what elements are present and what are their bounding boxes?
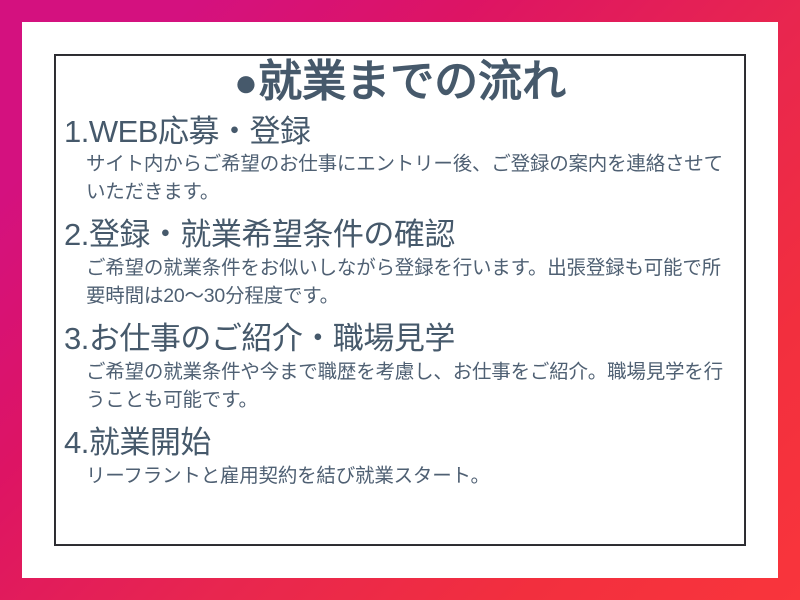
- step-number: 1.: [64, 114, 89, 149]
- step-number: 4.: [64, 425, 89, 460]
- list-item: 3.お仕事のご紹介・職場見学 ご希望の就業条件や今まで職歴を考慮し、お仕事をご紹…: [64, 321, 736, 414]
- step-description: リーフラントと雇用契約を結び就業スタート。: [86, 463, 736, 491]
- step-heading: 3.お仕事のご紹介・職場見学: [64, 321, 736, 358]
- step-heading: 4.就業開始: [64, 425, 736, 462]
- step-number: 3.: [64, 321, 89, 356]
- step-heading: 1.WEB応募・登録: [64, 114, 736, 151]
- step-number: 2.: [64, 217, 89, 252]
- step-description: サイト内からご希望のお仕事にエントリー後、ご登録の案内を連絡させていただきます。: [86, 151, 736, 206]
- list-item: 4.就業開始 リーフラントと雇用契約を結び就業スタート。: [64, 425, 736, 490]
- step-title: お仕事のご紹介・職場見学: [89, 321, 455, 356]
- poster-content: ●就業までの流れ 1.WEB応募・登録 サイト内からご希望のお仕事にエントリー後…: [64, 58, 736, 542]
- bullet-circle-icon: ●: [234, 61, 258, 105]
- list-item: 2.登録・就業希望条件の確認 ご希望の就業条件をお似いしながら登録を行います。出…: [64, 217, 736, 310]
- step-description: ご希望の就業条件や今まで職歴を考慮し、お仕事をご紹介。職場見学を行うことも可能で…: [86, 359, 736, 414]
- step-title: WEB応募・登録: [89, 114, 311, 149]
- step-title: 就業開始: [89, 425, 211, 460]
- white-page-area: ●就業までの流れ 1.WEB応募・登録 サイト内からご希望のお仕事にエントリー後…: [22, 22, 778, 578]
- page-title-text: 就業までの流れ: [258, 57, 566, 106]
- step-heading: 2.登録・就業希望条件の確認: [64, 217, 736, 254]
- steps-list: 1.WEB応募・登録 サイト内からご希望のお仕事にエントリー後、ご登録の案内を連…: [64, 114, 736, 491]
- poster-canvas: ●就業までの流れ 1.WEB応募・登録 サイト内からご希望のお仕事にエントリー後…: [0, 0, 800, 600]
- step-title: 登録・就業希望条件の確認: [89, 217, 455, 252]
- step-description: ご希望の就業条件をお似いしながら登録を行います。出張登録も可能で所要時間は20〜…: [86, 255, 736, 310]
- list-item: 1.WEB応募・登録 サイト内からご希望のお仕事にエントリー後、ご登録の案内を連…: [64, 114, 736, 207]
- page-title: ●就業までの流れ: [64, 58, 736, 106]
